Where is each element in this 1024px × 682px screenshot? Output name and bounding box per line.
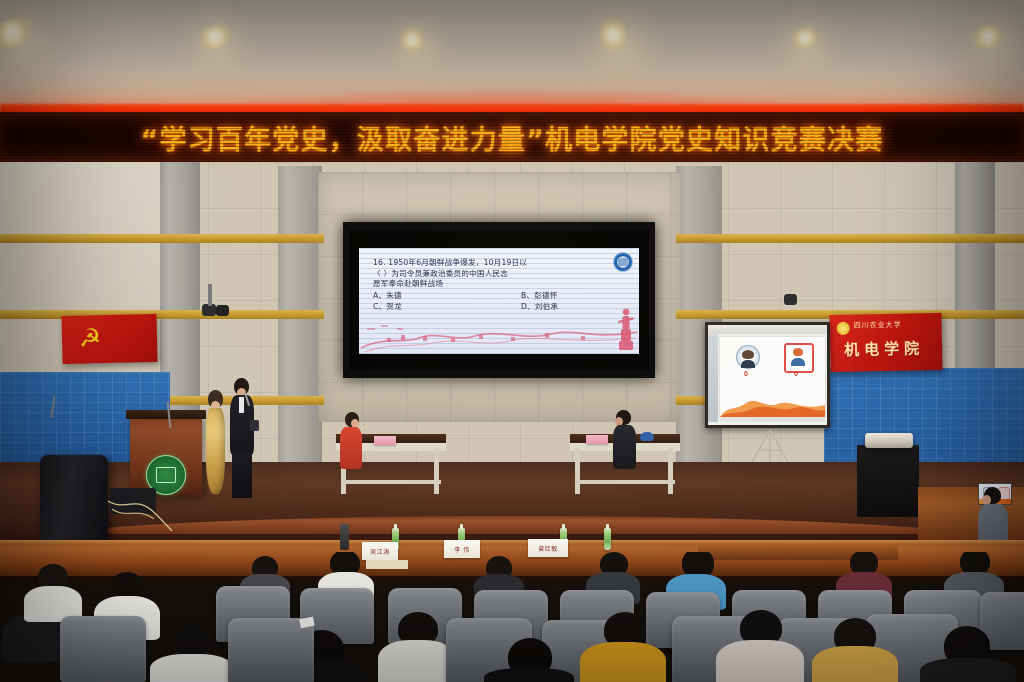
app-sidebar: [708, 334, 718, 422]
projector-stand: [857, 445, 919, 517]
contestant-name-card: [586, 435, 608, 444]
avatar-body: [741, 360, 755, 368]
great-wall-artwork: [359, 314, 639, 354]
chair-back: [640, 432, 654, 441]
audience-body: [580, 642, 666, 682]
wall-stripe: [676, 234, 1024, 243]
host-script-card: [250, 420, 259, 431]
ceiling: [0, 0, 1024, 112]
avatar-hair: [793, 348, 803, 356]
wall-stripe: [0, 234, 324, 243]
score-left: 0: [744, 371, 748, 378]
question-line-1: 16. 1950年6月朝鲜战争爆发，10月19日以: [373, 258, 631, 269]
audience-body: [920, 658, 1016, 682]
audience-body: [716, 640, 804, 682]
projector: [865, 433, 913, 448]
table-rail: [577, 480, 675, 484]
thermos: [340, 524, 349, 550]
avatar-hair: [742, 350, 754, 359]
table-leg: [575, 448, 580, 494]
auditorium-photo: “学习百年党史，汲取奋进力量”机电学院党史知识竞赛决赛: [0, 0, 1024, 682]
score-right: 0: [794, 371, 798, 378]
host-gown: [206, 408, 225, 494]
option-a: A、朱德: [373, 291, 402, 302]
contestant-shirt: [613, 425, 636, 469]
wall-stripe: [0, 310, 324, 319]
question-line-3: 愿军奉命赴朝鲜战场: [373, 279, 631, 290]
slide-canvas: 0 0: [720, 337, 825, 417]
auditorium-seat[interactable]: [60, 616, 146, 682]
female-host: [203, 390, 229, 498]
wall-speaker-icon: [784, 294, 797, 305]
wall-speaker-mount: [208, 284, 212, 306]
option-d: D、刘伯承: [521, 302, 558, 313]
wall-speaker-icon: [216, 305, 229, 316]
water-bottle: [604, 528, 611, 550]
screen-tripod: [748, 428, 792, 466]
scoreboard-display: 0 0: [708, 325, 827, 425]
app-statusbar: [720, 417, 825, 422]
projection-surface: 16. 1950年6月朝鲜战争爆发，10月19日以 〈 〉为司令员兼政治委员的中…: [349, 230, 649, 370]
audience-body: [484, 668, 574, 682]
audience-area: [0, 552, 1024, 682]
male-host: [228, 378, 256, 500]
host-shirt: [239, 397, 244, 413]
contestant-name-card: [374, 436, 396, 445]
party-flag: ☭: [61, 314, 157, 364]
audience-body: [812, 646, 898, 682]
question-line-2: 〈 〉为司令员兼政治委员的中国人民志: [373, 269, 631, 280]
audience-body: [150, 654, 234, 682]
avatar: [736, 345, 760, 369]
table-leg: [434, 448, 439, 494]
dept-banner-college: 机电学院: [844, 337, 924, 360]
audience-body: [378, 640, 456, 682]
university-seal-icon: [837, 322, 850, 335]
avatar-body: [791, 358, 805, 366]
led-banner-text: “学习百年党史，汲取奋进力量”机电学院党史知识竞赛决赛: [141, 118, 884, 157]
contestant-shirt: [340, 427, 362, 469]
secondary-projection-screen: 0 0: [705, 322, 830, 428]
flame-decoration: [720, 391, 825, 417]
judges-table-edge: [0, 540, 1024, 545]
led-banner: “学习百年党史，汲取奋进力量”机电学院党史知识竞赛决赛: [0, 112, 1024, 162]
department-banner: 四川农业大学 机电学院: [829, 313, 942, 372]
main-projection-screen: 16. 1950年6月朝鲜战争爆发，10月19日以 〈 〉为司令员兼政治委员的中…: [343, 222, 655, 378]
option-c: C、贺龙: [373, 302, 402, 313]
soldier-monument-icon: [615, 306, 637, 352]
table-leg: [668, 448, 673, 494]
emblem-inner: [156, 467, 176, 483]
avatar-active: [784, 343, 814, 373]
hammer-and-sickle-icon: ☭: [76, 324, 105, 353]
contestant-left: [340, 412, 364, 474]
table-rail: [343, 480, 441, 484]
app-titlebar: [708, 325, 827, 334]
cables: [104, 495, 174, 535]
option-b: B、彭德怀: [521, 291, 558, 302]
host-trousers: [232, 452, 252, 498]
dept-banner-university: 四川农业大学: [854, 320, 902, 331]
podium-top: [126, 410, 206, 419]
podium: [130, 415, 202, 495]
quiz-slide: 16. 1950年6月朝鲜战争爆发，10月19日以 〈 〉为司令员兼政治委员的中…: [359, 248, 639, 354]
contestant-right: [612, 410, 638, 474]
